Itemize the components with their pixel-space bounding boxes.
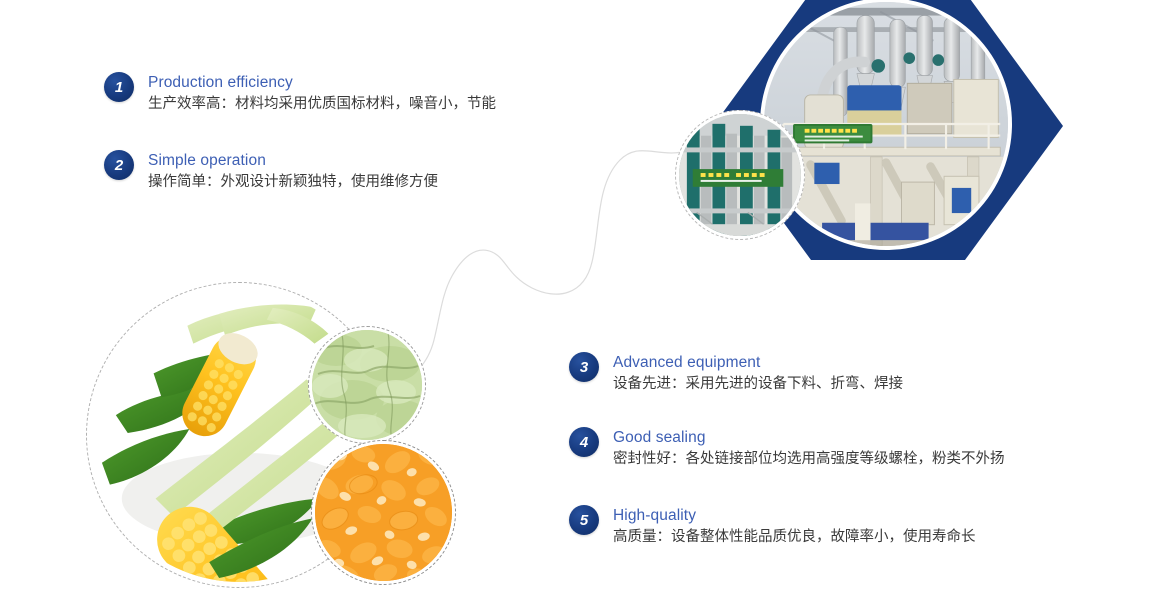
factory-photo-small <box>675 110 805 240</box>
feature-text-block: High-quality 高质量：设备整体性能品质优良，故障率小，使用寿命长 <box>613 505 976 548</box>
feature-number-badge: 2 <box>104 150 134 180</box>
feature-item-1[interactable]: 1 Production efficiency 生产效率高：材料均采用优质国标材… <box>104 72 496 115</box>
feature-title-en: Advanced equipment <box>613 352 903 373</box>
feature-text-block: Advanced equipment 设备先进：采用先进的设备下料、折弯、焊接 <box>613 352 903 395</box>
feature-title-en: Simple operation <box>148 150 438 171</box>
feature-title-cn: 高质量：设备整体性能品质优良，故障率小，使用寿命长 <box>613 526 976 548</box>
corn-paste-photo <box>308 326 426 444</box>
feature-title-cn: 设备先进：采用先进的设备下料、折弯、焊接 <box>613 373 903 395</box>
feature-title-en: Good sealing <box>613 427 1005 448</box>
feature-item-2[interactable]: 2 Simple operation 操作简单：外观设计新颖独特，使用维修方便 <box>104 150 438 193</box>
feature-number-badge: 3 <box>569 352 599 382</box>
feature-text-block: Production efficiency 生产效率高：材料均采用优质国标材料，… <box>148 72 496 115</box>
feature-title-cn: 操作简单：外观设计新颖独特，使用维修方便 <box>148 171 438 193</box>
feature-title-en: Production efficiency <box>148 72 496 93</box>
feature-number-badge: 5 <box>569 505 599 535</box>
feature-number-badge: 1 <box>104 72 134 102</box>
feature-title-en: High-quality <box>613 505 976 526</box>
feature-title-cn: 密封性好：各处链接部位均选用高强度等级螺栓，粉类不外扬 <box>613 448 1005 470</box>
feature-text-block: Simple operation 操作简单：外观设计新颖独特，使用维修方便 <box>148 150 438 193</box>
feature-number-badge: 4 <box>569 427 599 457</box>
feature-item-4[interactable]: 4 Good sealing 密封性好：各处链接部位均选用高强度等级螺栓，粉类不… <box>569 427 1005 470</box>
corn-media-group <box>86 282 496 591</box>
feature-title-cn: 生产效率高：材料均采用优质国标材料，噪音小，节能 <box>148 93 496 115</box>
feature-item-3[interactable]: 3 Advanced equipment 设备先进：采用先进的设备下料、折弯、焊… <box>569 352 903 395</box>
infographic-canvas: 1 Production efficiency 生产效率高：材料均采用优质国标材… <box>0 0 1154 591</box>
feature-item-5[interactable]: 5 High-quality 高质量：设备整体性能品质优良，故障率小，使用寿命长 <box>569 505 976 548</box>
factory-photo-main <box>760 0 1012 250</box>
factory-media-group <box>655 0 1075 267</box>
corn-grits-photo <box>311 440 456 585</box>
feature-text-block: Good sealing 密封性好：各处链接部位均选用高强度等级螺栓，粉类不外扬 <box>613 427 1005 470</box>
